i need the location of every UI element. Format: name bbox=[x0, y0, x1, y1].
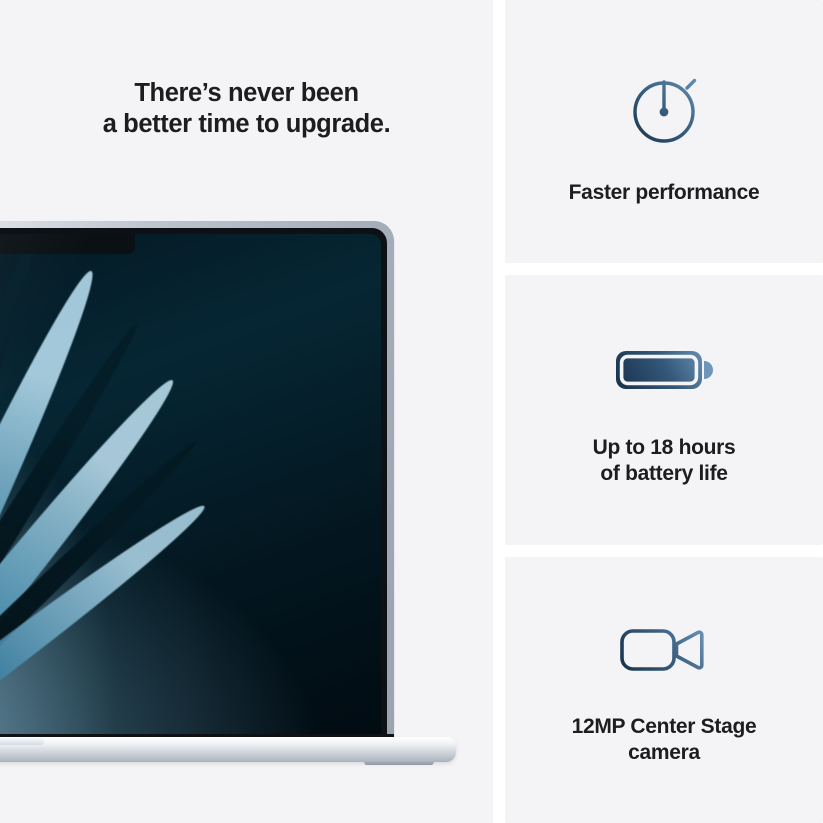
feature-card-faster-performance[interactable]: Faster performance bbox=[505, 0, 823, 263]
macbook-product-image bbox=[0, 221, 394, 741]
feature-label-line-2: camera bbox=[572, 740, 757, 766]
screen-wallpaper bbox=[0, 234, 381, 737]
feature-card-list: Faster performance bbox=[505, 0, 823, 823]
stopwatch-icon bbox=[616, 58, 712, 154]
camera-notch bbox=[0, 234, 135, 254]
feature-label-line-2: of battery life bbox=[593, 461, 736, 487]
video-camera-icon bbox=[612, 614, 716, 686]
feature-card-battery-life[interactable]: Up to 18 hours of battery life bbox=[505, 275, 823, 545]
product-image-panel: There’s never been a better time to upgr… bbox=[0, 0, 493, 823]
product-feature-page: There’s never been a better time to upgr… bbox=[0, 0, 823, 823]
battery-icon bbox=[608, 333, 720, 405]
feature-card-center-stage-camera[interactable]: 12MP Center Stage camera bbox=[505, 557, 823, 823]
laptop-base-lip bbox=[0, 738, 44, 745]
laptop-lid bbox=[0, 221, 394, 738]
page-title: There’s never been a better time to upgr… bbox=[0, 78, 493, 140]
feature-label: 12MP Center Stage camera bbox=[572, 714, 757, 766]
feature-label: Up to 18 hours of battery life bbox=[593, 435, 736, 487]
feature-label-line-1: 12MP Center Stage bbox=[572, 715, 757, 738]
feature-label-line-1: Up to 18 hours bbox=[593, 436, 736, 459]
laptop-foot bbox=[364, 760, 434, 765]
laptop-bezel bbox=[0, 228, 387, 740]
feature-label-line-1: Faster performance bbox=[569, 181, 760, 204]
laptop-base bbox=[0, 737, 456, 762]
headline-line-2: a better time to upgrade. bbox=[0, 109, 493, 140]
headline-line-1: There’s never been bbox=[134, 79, 358, 107]
feature-label: Faster performance bbox=[569, 180, 760, 206]
laptop-screen bbox=[0, 234, 381, 737]
